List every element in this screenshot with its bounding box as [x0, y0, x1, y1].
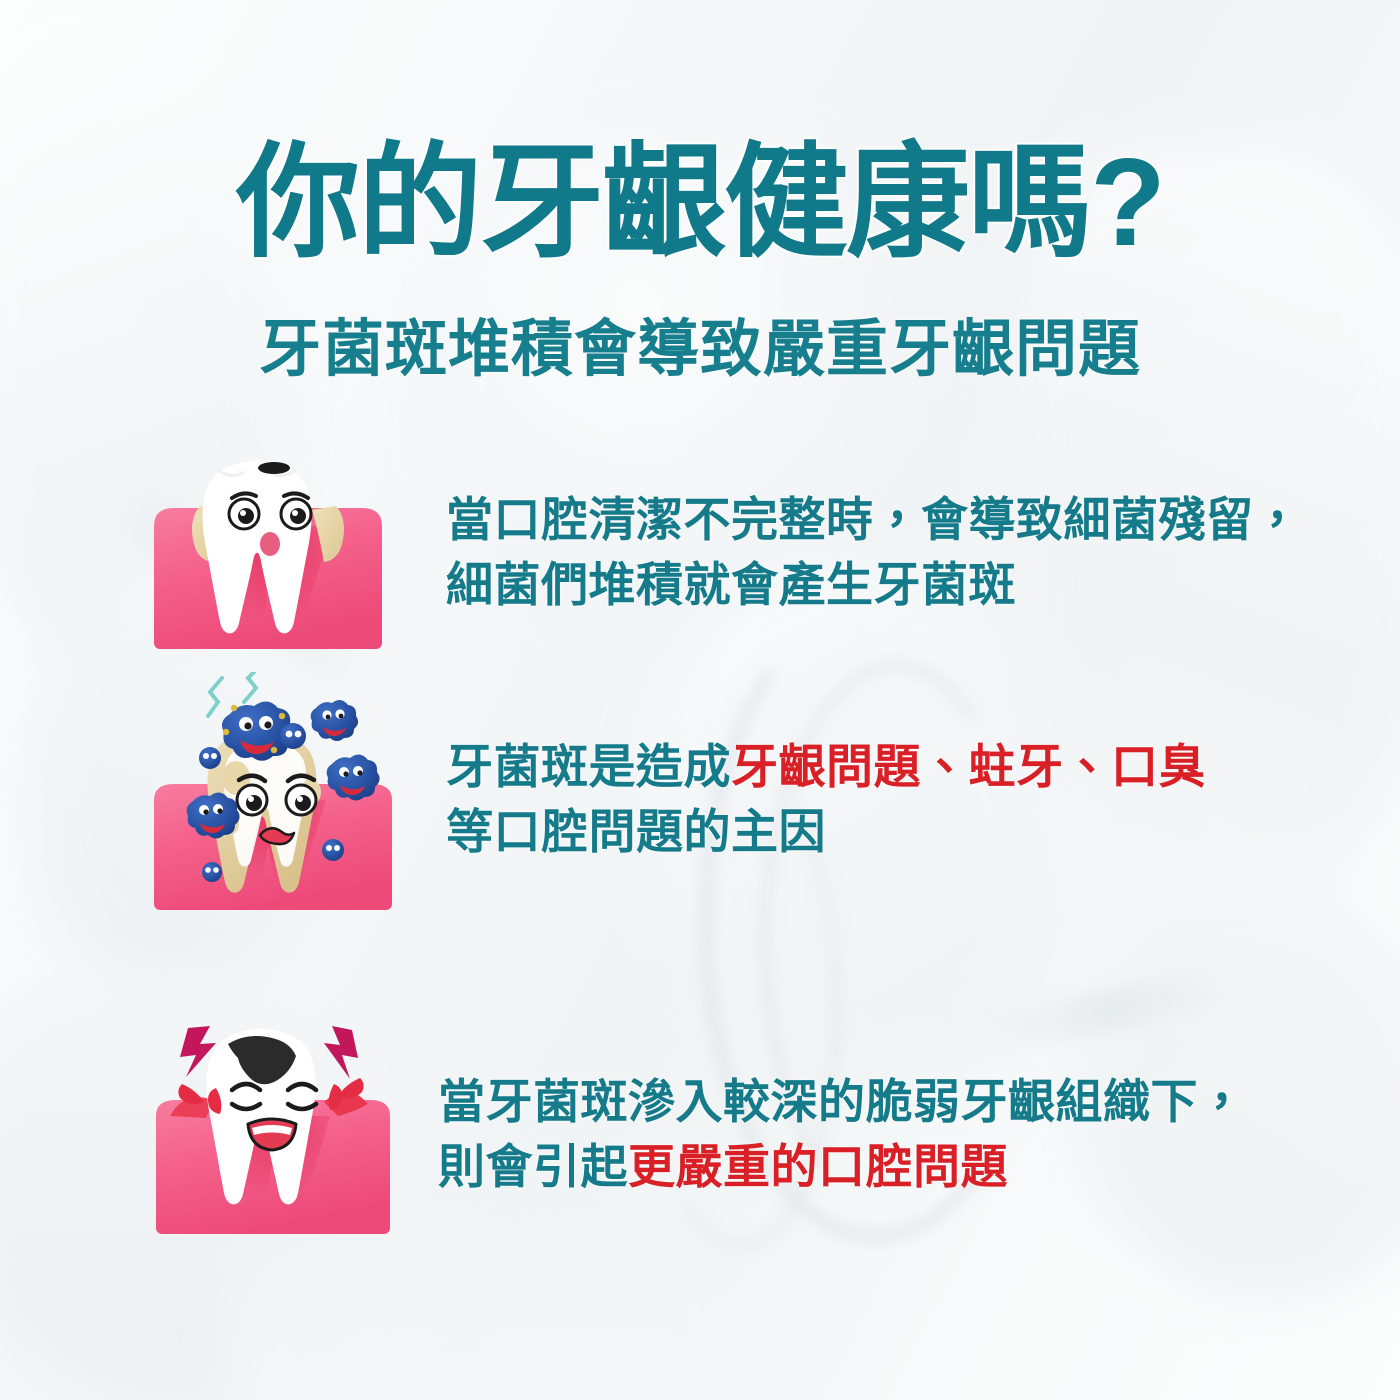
- healthy-tooth-with-plaque-illustration: [148, 448, 388, 658]
- copy-part: 則會引起: [438, 1140, 628, 1193]
- copy-part: 當口腔清潔不完整時，會導致細菌殘留，: [446, 493, 1301, 546]
- copy-line: 當牙菌斑滲入較深的脆弱牙齦組織下，: [438, 1070, 1246, 1135]
- copy-line: 則會引起更嚴重的口腔問題: [438, 1135, 1246, 1200]
- copy-part: 細菌們堆積就會產生牙菌斑: [446, 558, 1016, 611]
- section-plaque-forms: 當口腔清潔不完整時，會導致細菌殘留， 細菌們堆積就會產生牙菌斑: [148, 448, 1301, 658]
- bacteria-germ: [280, 723, 306, 749]
- bacteria-germ: [202, 862, 222, 882]
- copy-part: 牙菌斑是造成: [446, 740, 731, 793]
- copy-line: 細菌們堆積就會產生牙菌斑: [446, 553, 1301, 618]
- page-subtitle: 牙菌斑堆積會導致嚴重牙齦問題: [0, 316, 1400, 384]
- copy-part-highlight: 更嚴重的口腔問題: [628, 1140, 1008, 1193]
- section-severe-problems: 當牙菌斑滲入較深的脆弱牙齦組織下， 則會引起更嚴重的口腔問題: [148, 1012, 1246, 1257]
- copy-line: 等口腔問題的主因: [446, 800, 1206, 865]
- section-severe-problems-text: 當牙菌斑滲入較深的脆弱牙齦組織下， 則會引起更嚴重的口腔問題: [438, 1070, 1246, 1200]
- section-plaque-causes: 牙菌斑是造成牙齦問題、蛀牙、口臭 等口腔問題的主因: [148, 672, 1206, 927]
- copy-part: 等口腔問題的主因: [446, 805, 826, 858]
- page-title: 你的牙齦健康嗎?: [0, 138, 1400, 268]
- tooth-with-bacteria-illustration: [148, 672, 398, 927]
- section-plaque-causes-text: 牙菌斑是造成牙齦問題、蛀牙、口臭 等口腔問題的主因: [446, 735, 1206, 865]
- copy-part: 當牙菌斑滲入較深的脆弱牙齦組織下，: [438, 1075, 1246, 1128]
- copy-line: 當口腔清潔不完整時，會導致細菌殘留，: [446, 488, 1301, 553]
- bacteria-germ: [322, 839, 344, 861]
- section-plaque-forms-text: 當口腔清潔不完整時，會導致細菌殘留， 細菌們堆積就會產生牙菌斑: [446, 488, 1301, 618]
- copy-part-highlight: 牙齦問題、蛀牙、口臭: [731, 740, 1206, 793]
- bacteria-germ: [311, 700, 358, 741]
- painful-tooth-receding-gum-illustration: [148, 1012, 398, 1257]
- copy-line: 牙菌斑是造成牙齦問題、蛀牙、口臭: [446, 735, 1206, 800]
- dental-health-infographic: 你的牙齦健康嗎? 牙菌斑堆積會導致嚴重牙齦問題: [0, 0, 1400, 1400]
- bacteria-germ: [199, 747, 221, 769]
